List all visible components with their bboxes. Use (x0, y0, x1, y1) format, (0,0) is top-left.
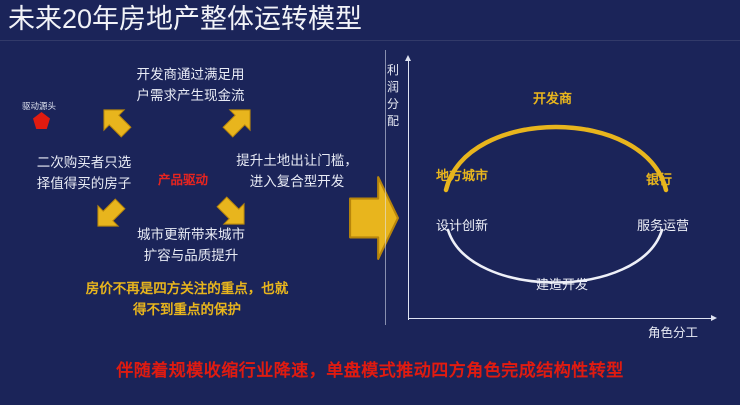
y-axis-char-1: 润 (386, 79, 400, 96)
slide-canvas: 未来20年房地产整体运转模型 驱动源头 开发商通过满足用 户需求产生现金流 二次… (0, 0, 740, 405)
y-axis-char-3: 配 (386, 113, 400, 130)
text-block-top-line2: 户需求产生现金流 (98, 85, 283, 106)
node-bank: 银行 (646, 172, 672, 188)
big-right-arrow-icon (348, 172, 400, 264)
node-developer: 开发商 (533, 91, 572, 107)
text-block-top: 开发商通过满足用 户需求产生现金流 (98, 64, 283, 106)
node-design: 设计创新 (436, 218, 488, 234)
text-block-top-line1: 开发商通过满足用 (98, 64, 283, 85)
node-local-city: 地方城市 (436, 168, 488, 184)
drive-source-label: 驱动源头 (8, 96, 70, 117)
text-block-bottom-line1: 城市更新带来城市 (96, 224, 286, 245)
y-axis-char-2: 分 (386, 96, 400, 113)
text-block-bottom-line2: 扩容与品质提升 (96, 245, 286, 266)
white-arc-path (448, 230, 662, 283)
footer-banner: 伴随着规模收缩行业降速，单盘模式推动四方角色完成结构性转型 (0, 356, 740, 381)
y-axis-char-0: 利 (386, 62, 400, 79)
x-axis-label: 角色分工 (648, 322, 698, 341)
price-note-line1: 房价不再是四方关注的重点，也就 (42, 278, 332, 299)
page-title: 未来20年房地产整体运转模型 (8, 2, 362, 36)
price-note: 房价不再是四方关注的重点，也就 得不到重点的保护 (42, 278, 332, 320)
product-driver-tag: 产品驱动 (140, 170, 226, 191)
node-service: 服务运营 (637, 218, 689, 234)
y-axis-label: 利 润 分 配 (386, 62, 400, 130)
node-construction: 建造开发 (536, 277, 588, 293)
text-block-bottom: 城市更新带来城市 扩容与品质提升 (96, 224, 286, 266)
title-divider (0, 40, 740, 41)
text-block-right-line1: 提升土地出让门槛， (222, 150, 372, 171)
price-note-line2: 得不到重点的保护 (42, 299, 332, 320)
